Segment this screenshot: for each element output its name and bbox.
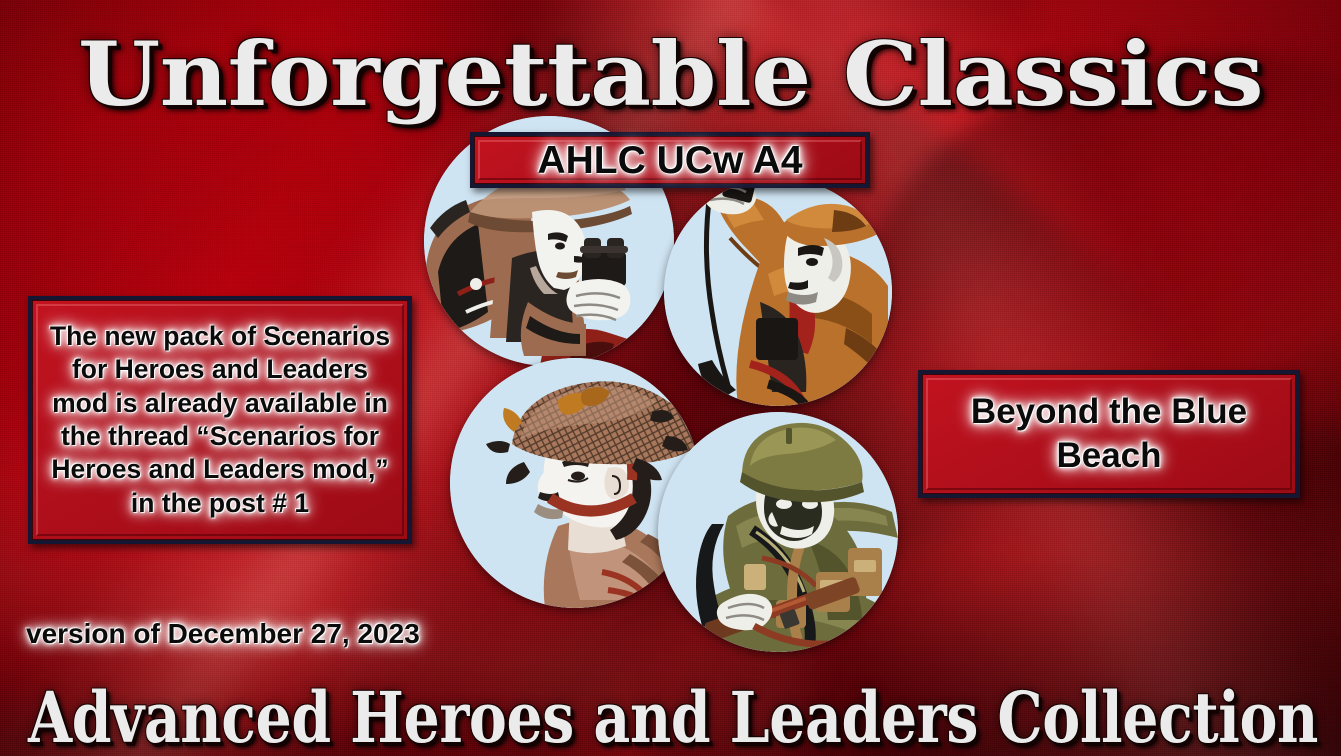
scenario-title-label: Beyond the Blue Beach	[922, 390, 1296, 478]
collection-title: Advanced Heroes and Leaders Collection	[28, 676, 1318, 756]
announcement-box: The new pack of Scenarios for Heroes and…	[28, 296, 412, 544]
portrait-soldier-netted-helmet	[450, 358, 700, 608]
page-title: Unforgettable Classics	[78, 22, 1263, 126]
scenario-title-box: Beyond the Blue Beach	[918, 370, 1300, 498]
code-badge-label: AHLC UCw A4	[537, 141, 802, 180]
version-label: version of December 27, 2023	[26, 618, 420, 650]
code-badge: AHLC UCw A4	[470, 132, 870, 188]
portrait-rifleman-kneeling	[658, 412, 898, 652]
announcement-text: The new pack of Scenarios for Heroes and…	[32, 320, 408, 520]
poster-canvas: Unforgettable Classics AHLC UCw A4 The n…	[0, 0, 1341, 756]
portrait-soldier-raising-arm	[664, 178, 892, 406]
